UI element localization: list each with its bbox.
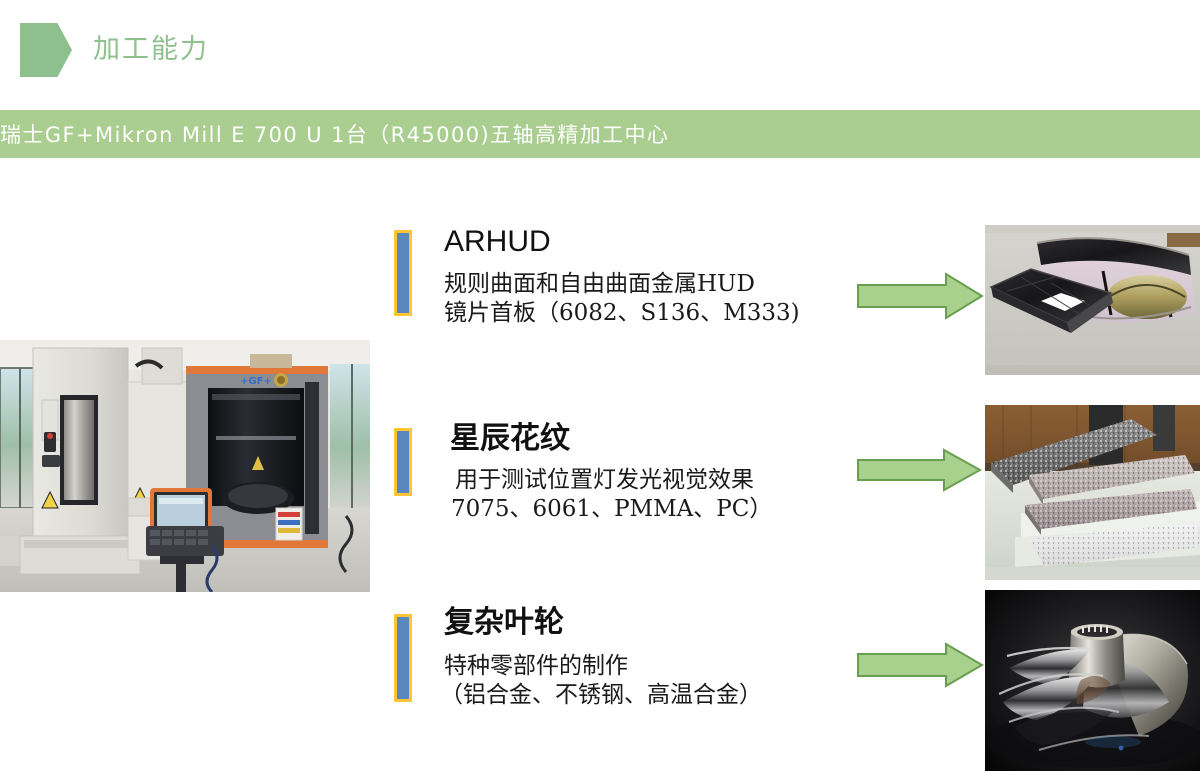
arhud-lens-graphic xyxy=(985,225,1200,375)
svg-text:+GF+: +GF+ xyxy=(240,376,272,387)
capability-text-block: 星辰花纹 用于测试位置灯发光视觉效果 7075、6061、PMMA、PC） xyxy=(450,420,772,524)
capability-description-line1: 用于测试位置灯发光视觉效果 xyxy=(455,467,754,493)
section-banner: 瑞士GF+Mikron Mill E 700 U 1台（R45000)五轴高精加… xyxy=(0,110,1200,158)
section-banner-label: 瑞士GF+Mikron Mill E 700 U 1台（R45000)五轴高精加… xyxy=(0,119,669,149)
capability-title: 复杂叶轮 xyxy=(444,604,762,642)
capability-description-line2: 镜片首板（6082、S136、M333) xyxy=(444,299,800,328)
capability-title: ARHUD xyxy=(444,223,800,261)
accent-bar xyxy=(394,230,412,316)
page-header: 加工能力 xyxy=(0,0,1200,95)
capability-description-line1: 特种零部件的制作 xyxy=(444,653,628,679)
chevron-right-icon xyxy=(20,23,72,77)
impeller-graphic xyxy=(985,590,1200,771)
capability-image xyxy=(985,225,1200,375)
capability-description-line2: 7075、6061、PMMA、PC） xyxy=(451,495,772,524)
starry-pattern-graphic xyxy=(985,405,1200,580)
capability-text-block: 复杂叶轮 特种零部件的制作 （铝合金、不锈钢、高温合金） xyxy=(444,604,762,710)
capability-description: 用于测试位置灯发光视觉效果 7075、6061、PMMA、PC） xyxy=(455,466,772,525)
capability-text-block: ARHUD 规则曲面和自由曲面金属HUD 镜片首板（6082、S136、M333… xyxy=(444,223,800,328)
capability-description: 特种零部件的制作 （铝合金、不锈钢、高温合金） xyxy=(444,652,762,711)
arrow-right-icon xyxy=(856,642,984,688)
capability-image xyxy=(985,590,1200,771)
accent-bar xyxy=(394,614,412,702)
capability-description: 规则曲面和自由曲面金属HUD 镜片首板（6082、S136、M333) xyxy=(444,270,800,329)
arrow-right-icon xyxy=(856,272,984,320)
arrow-right-shape xyxy=(856,448,982,492)
arrow-right-shape xyxy=(856,642,984,688)
capability-image xyxy=(985,405,1200,580)
arrow-right-shape xyxy=(856,272,984,320)
capability-description-line1: 规则曲面和自由曲面金属HUD xyxy=(444,271,755,297)
page-title: 加工能力 xyxy=(93,27,209,66)
accent-bar xyxy=(394,428,412,496)
capability-title: 星辰花纹 xyxy=(450,420,772,458)
arrow-right-icon xyxy=(856,448,982,492)
capability-description-line2: （铝合金、不锈钢、高温合金） xyxy=(440,681,762,710)
